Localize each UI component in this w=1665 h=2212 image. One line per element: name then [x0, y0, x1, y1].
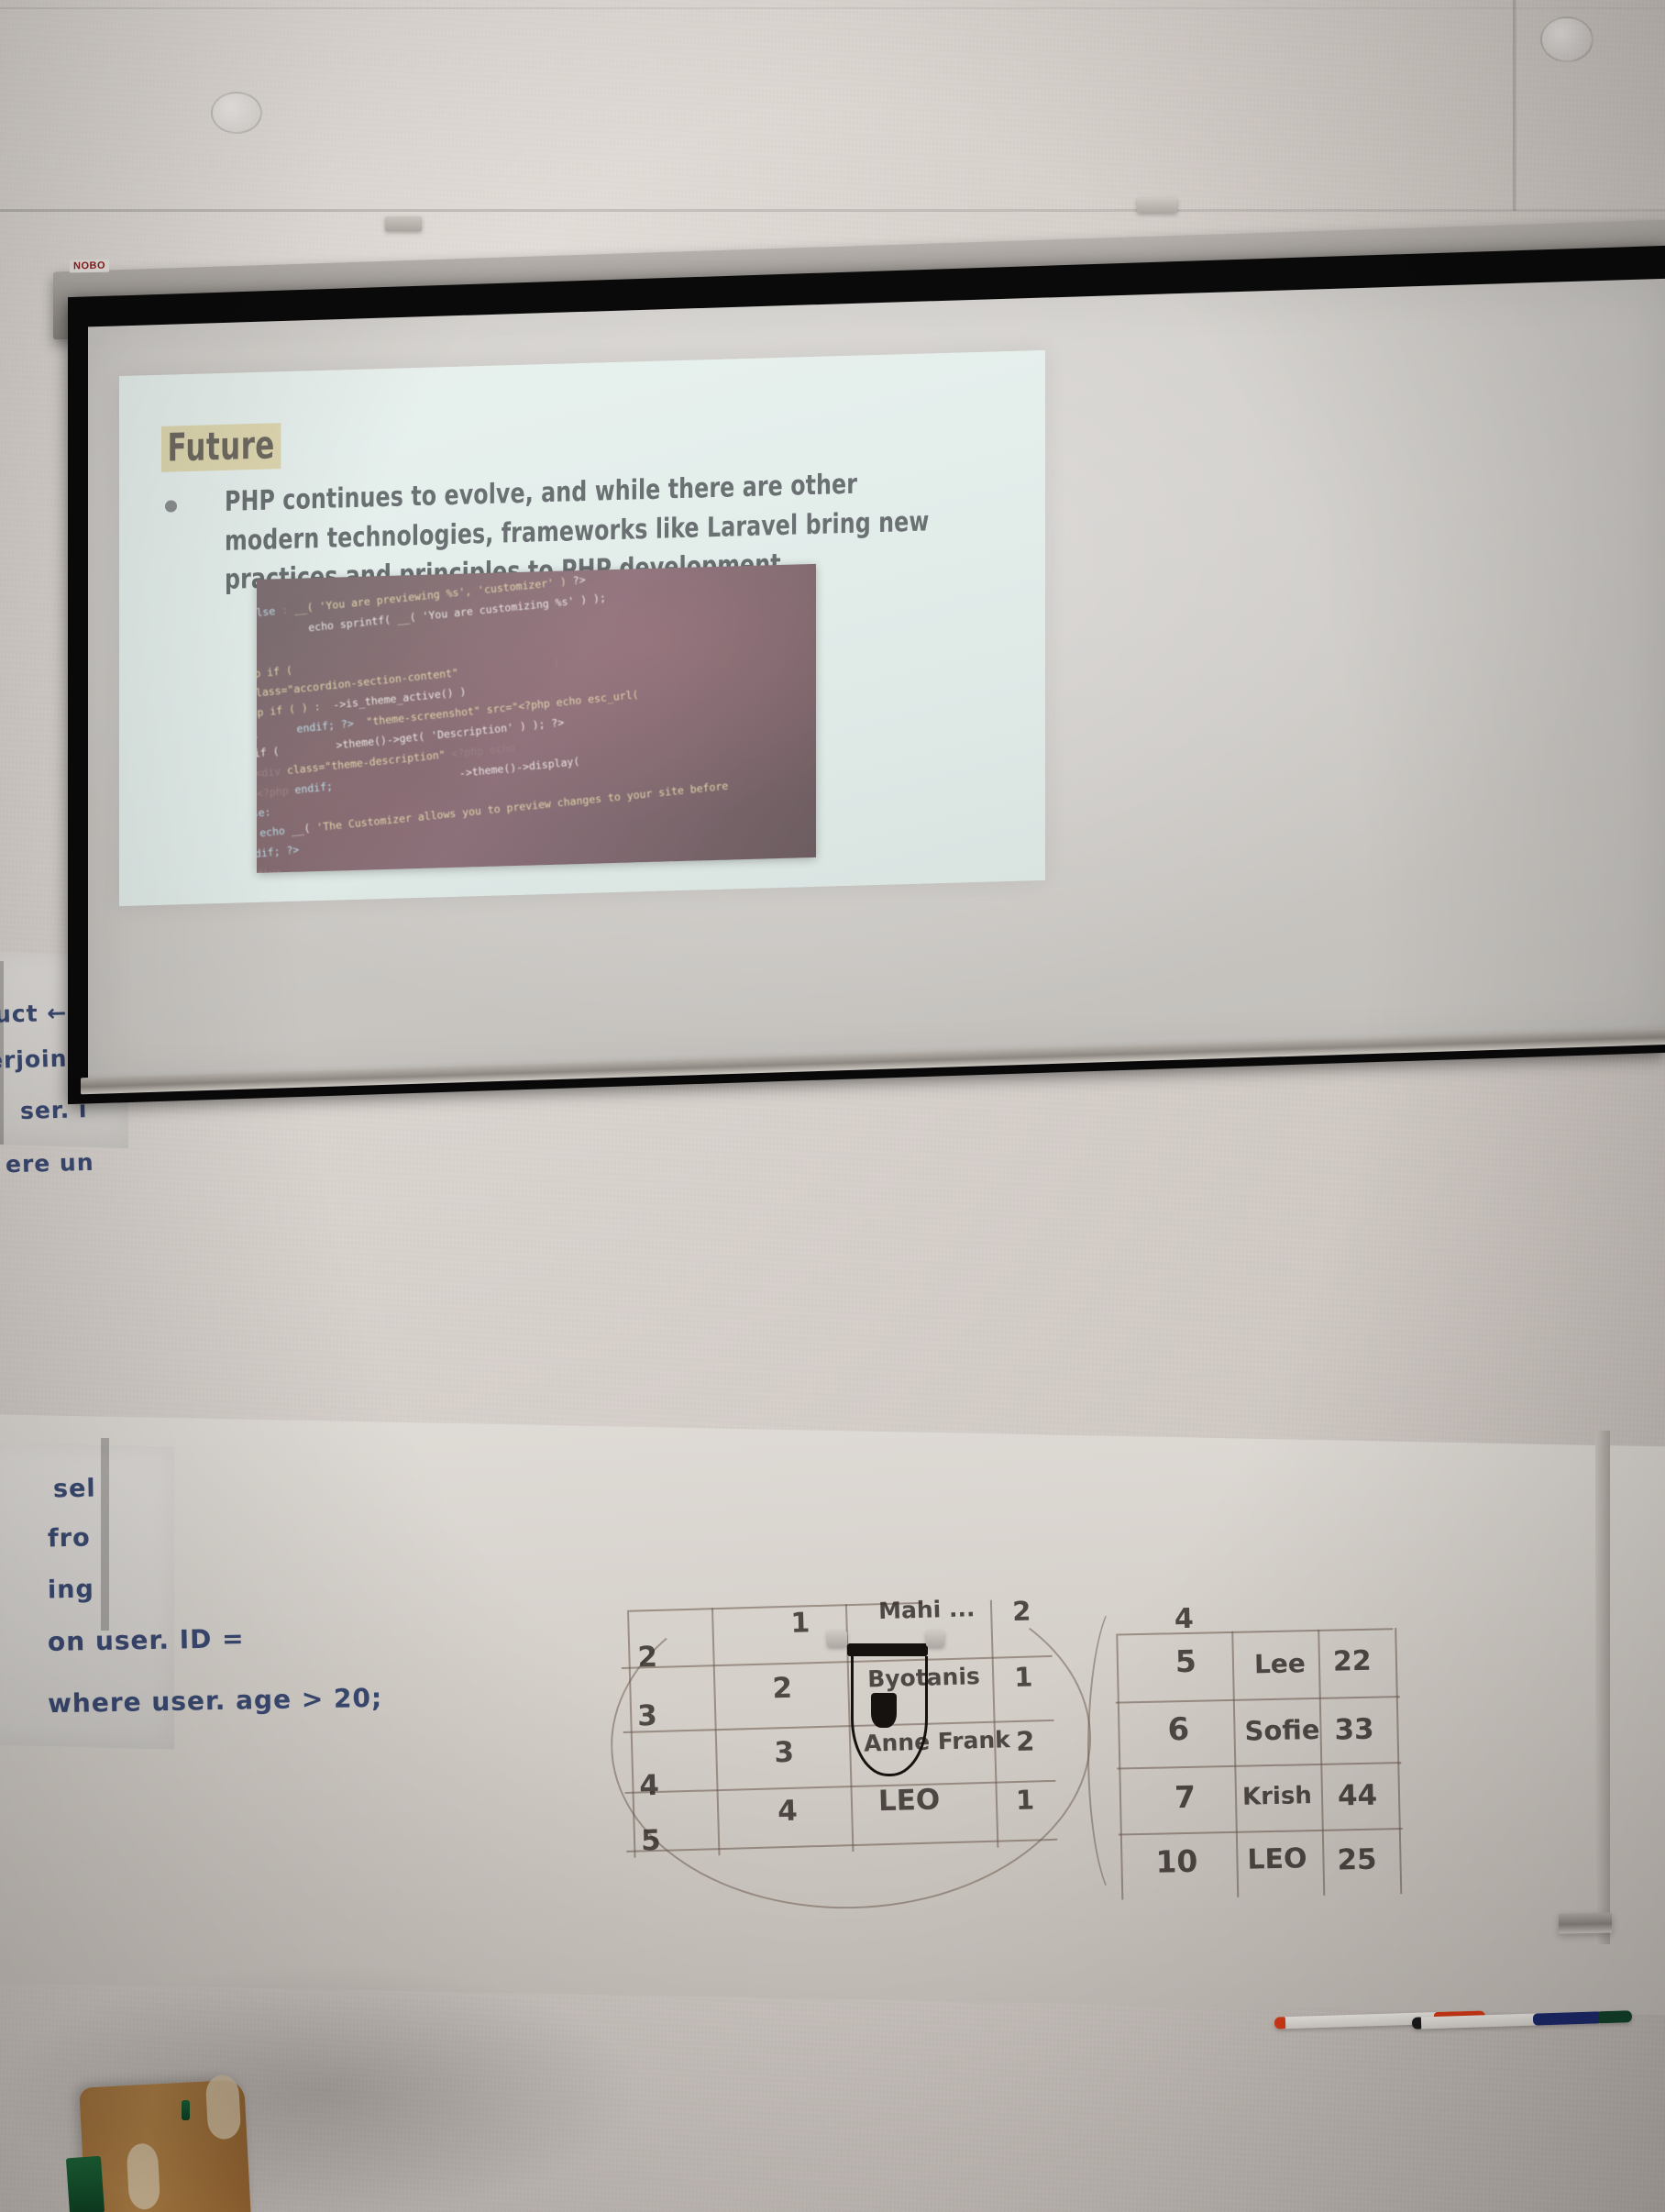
wall-corner-right — [1513, 0, 1516, 211]
table-right-r2-c1: Sofie — [1244, 1714, 1320, 1747]
whiteboard-divider — [101, 1438, 109, 1631]
ceiling-mark-left — [211, 92, 262, 134]
table-left-r3-c0: 4 — [639, 1769, 660, 1803]
table-right-r2-c0: 6 — [1167, 1711, 1190, 1748]
ceiling-mark-right — [1540, 17, 1593, 62]
chair-slot-right — [205, 2074, 242, 2140]
table-right-r3-c1: Krish — [1242, 1782, 1312, 1811]
table-left-r3-c2: LEO — [877, 1783, 940, 1818]
wooden-chair — [79, 2079, 251, 2212]
table-right-r4-c0: 10 — [1155, 1843, 1198, 1880]
table-right-r1-c1: Lee — [1254, 1648, 1307, 1679]
table-right-rule-2 — [1117, 1762, 1401, 1769]
cord-bracket-left — [827, 1631, 847, 1647]
table-right-r1-c0: 5 — [1175, 1643, 1197, 1679]
presentation-slide: Future PHP continues to evolve, and whil… — [119, 350, 1045, 906]
table-right-r3-c0: 7 — [1174, 1779, 1196, 1815]
table-right-left-curve — [1087, 1598, 1155, 1904]
code-screenshot-text: } else : __( 'You are previewing %s', 'c… — [257, 564, 816, 873]
table-right-r2-c2: 33 — [1334, 1713, 1374, 1747]
table-left-r2-c3: 2 — [1016, 1725, 1035, 1757]
table-left-r0-c1: 1 — [790, 1607, 810, 1640]
table-right-r4-c2: 25 — [1337, 1843, 1377, 1877]
screen-mount-left — [385, 216, 422, 231]
table-right-rule-1 — [1116, 1696, 1400, 1703]
green-pen-tip — [182, 2100, 190, 2120]
screen-mount-right — [1137, 198, 1177, 213]
classroom-photo: uct ← fro erjoin k+ ser. i ere un sel fr… — [0, 0, 1665, 2212]
bottom-note-on: on user. ID = — [48, 1623, 245, 1657]
wall-seam-upper — [0, 209, 1665, 212]
cord-bell — [871, 1693, 897, 1728]
whiteboard-right-frame — [1595, 1431, 1610, 1944]
table-left-r3-c3: 1 — [1015, 1785, 1034, 1817]
table-right-r1-c2: 22 — [1333, 1645, 1372, 1678]
green-bottle — [66, 2156, 105, 2212]
marker-blue-cap — [1533, 2011, 1603, 2025]
bottom-note-where: where user. age > 20; — [48, 1683, 383, 1719]
table-left-r1-c3: 1 — [1014, 1661, 1033, 1693]
bottom-note-join: ing — [48, 1576, 94, 1605]
table-left-r1-c0: 2 — [637, 1641, 658, 1675]
marker-red-tip — [1274, 2017, 1285, 2029]
cord-bracket-right — [926, 1631, 944, 1647]
chair-slot-left — [126, 2142, 160, 2210]
table-right-rule-0 — [1118, 1628, 1393, 1635]
table-right-r4-c1: LEO — [1247, 1842, 1307, 1875]
table-left-r4-c0: 5 — [641, 1824, 662, 1858]
table-right-rule-3 — [1119, 1828, 1403, 1835]
bottom-note-select: sel — [53, 1475, 96, 1504]
table-left-r2-c1: 3 — [774, 1736, 795, 1770]
table-left-r0-c3: 2 — [1012, 1596, 1031, 1628]
bottom-note-from: fro — [48, 1524, 91, 1554]
cord-handle-top — [847, 1643, 928, 1656]
wall-seam-top — [0, 7, 1665, 9]
left-note-line-4: ere un — [6, 1149, 94, 1178]
handwritten-table-right: 4 5 Lee 22 6 Sofie 33 7 Krish 44 10 LEO … — [1114, 1610, 1431, 1892]
table-right-r0-c0: 4 — [1174, 1603, 1195, 1635]
table-right-r3-c2: 44 — [1338, 1779, 1378, 1813]
marker-green-cap — [1599, 2010, 1632, 2023]
slide-title: Future — [161, 423, 281, 472]
screen-brand-label: NOBO — [70, 260, 109, 273]
table-left-r2-c0: 3 — [637, 1699, 658, 1733]
table-left-r0-c2: Mahi ... — [878, 1595, 976, 1624]
marker-blue-tip — [1412, 2017, 1421, 2029]
whiteboard-tray-right — [1559, 1912, 1612, 1933]
bullet-marker-icon — [165, 500, 177, 512]
table-left-r1-c1: 2 — [772, 1672, 793, 1706]
code-screenshot: } else : __( 'You are previewing %s', 'c… — [257, 564, 816, 873]
table-left-r3-c1: 4 — [777, 1795, 799, 1829]
